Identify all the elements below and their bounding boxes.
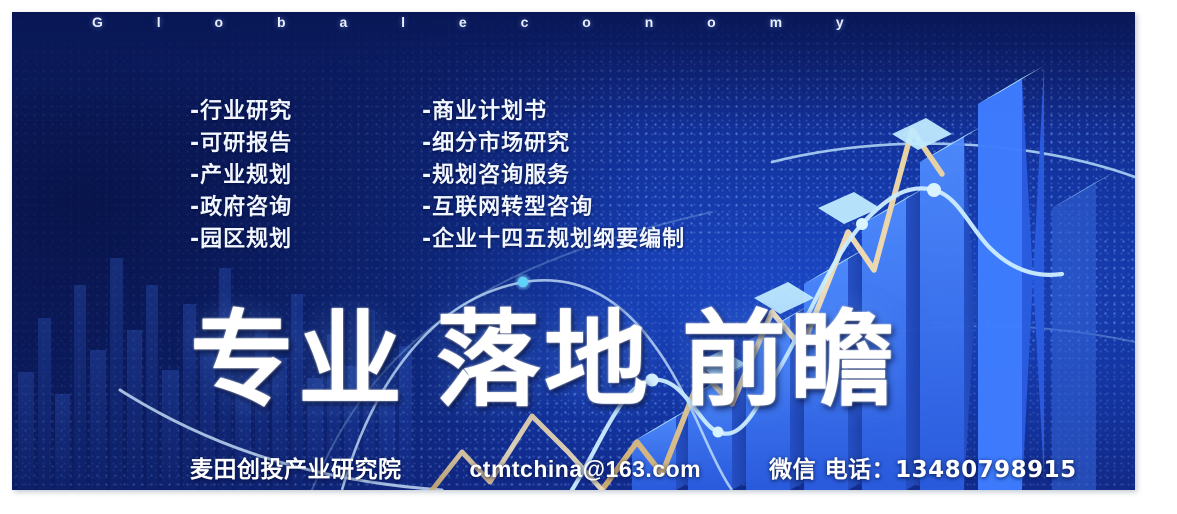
service-item: -企业十四五规划纲要编制 — [422, 224, 685, 256]
bar-7 — [978, 66, 1044, 490]
kicker-global-economy: G l o b a l e c o n o m y — [92, 14, 869, 30]
services-column-left: -行业研究 -可研报告 -产业规划 -政府咨询 -园区规划 — [190, 96, 292, 256]
services-column-right: -商业计划书 -细分市场研究 -规划咨询服务 -互联网转型咨询 -企业十四五规划… — [422, 96, 685, 256]
headline-word-2: 落地 — [436, 299, 652, 421]
bar-group — [632, 66, 1118, 490]
service-item: -园区规划 — [190, 224, 292, 256]
service-item: -规划咨询服务 — [422, 160, 685, 192]
service-item: -可研报告 — [190, 128, 292, 160]
org-name: 麦田创投产业研究院 — [190, 450, 402, 484]
service-item: -细分市场研究 — [422, 128, 685, 160]
bar-6 — [920, 124, 986, 490]
phone-contact: 微信 电话：13480798915 — [769, 450, 1077, 484]
headline-word-1: 专业 — [190, 299, 406, 421]
service-item: -政府咨询 — [190, 192, 292, 224]
service-item: -产业规划 — [190, 160, 292, 192]
email-address[interactable]: ctmtchina@163.com — [470, 456, 702, 483]
bar-8 — [1052, 170, 1118, 490]
arc-node-dot-core — [518, 277, 528, 287]
service-item: -行业研究 — [190, 96, 292, 128]
service-item: -互联网转型咨询 — [422, 192, 685, 224]
service-item: -商业计划书 — [422, 96, 685, 128]
headline-word-3: 前瞻 — [682, 299, 898, 421]
footer-contact-bar: 麦田创投产业研究院 ctmtchina@163.com 微信 电话：134807… — [190, 450, 1077, 484]
promo-banner: G l o b a l e c o n o m y -行业研究 -可研报告 -产… — [12, 12, 1135, 490]
headline: 专业落地前瞻 — [190, 308, 898, 412]
